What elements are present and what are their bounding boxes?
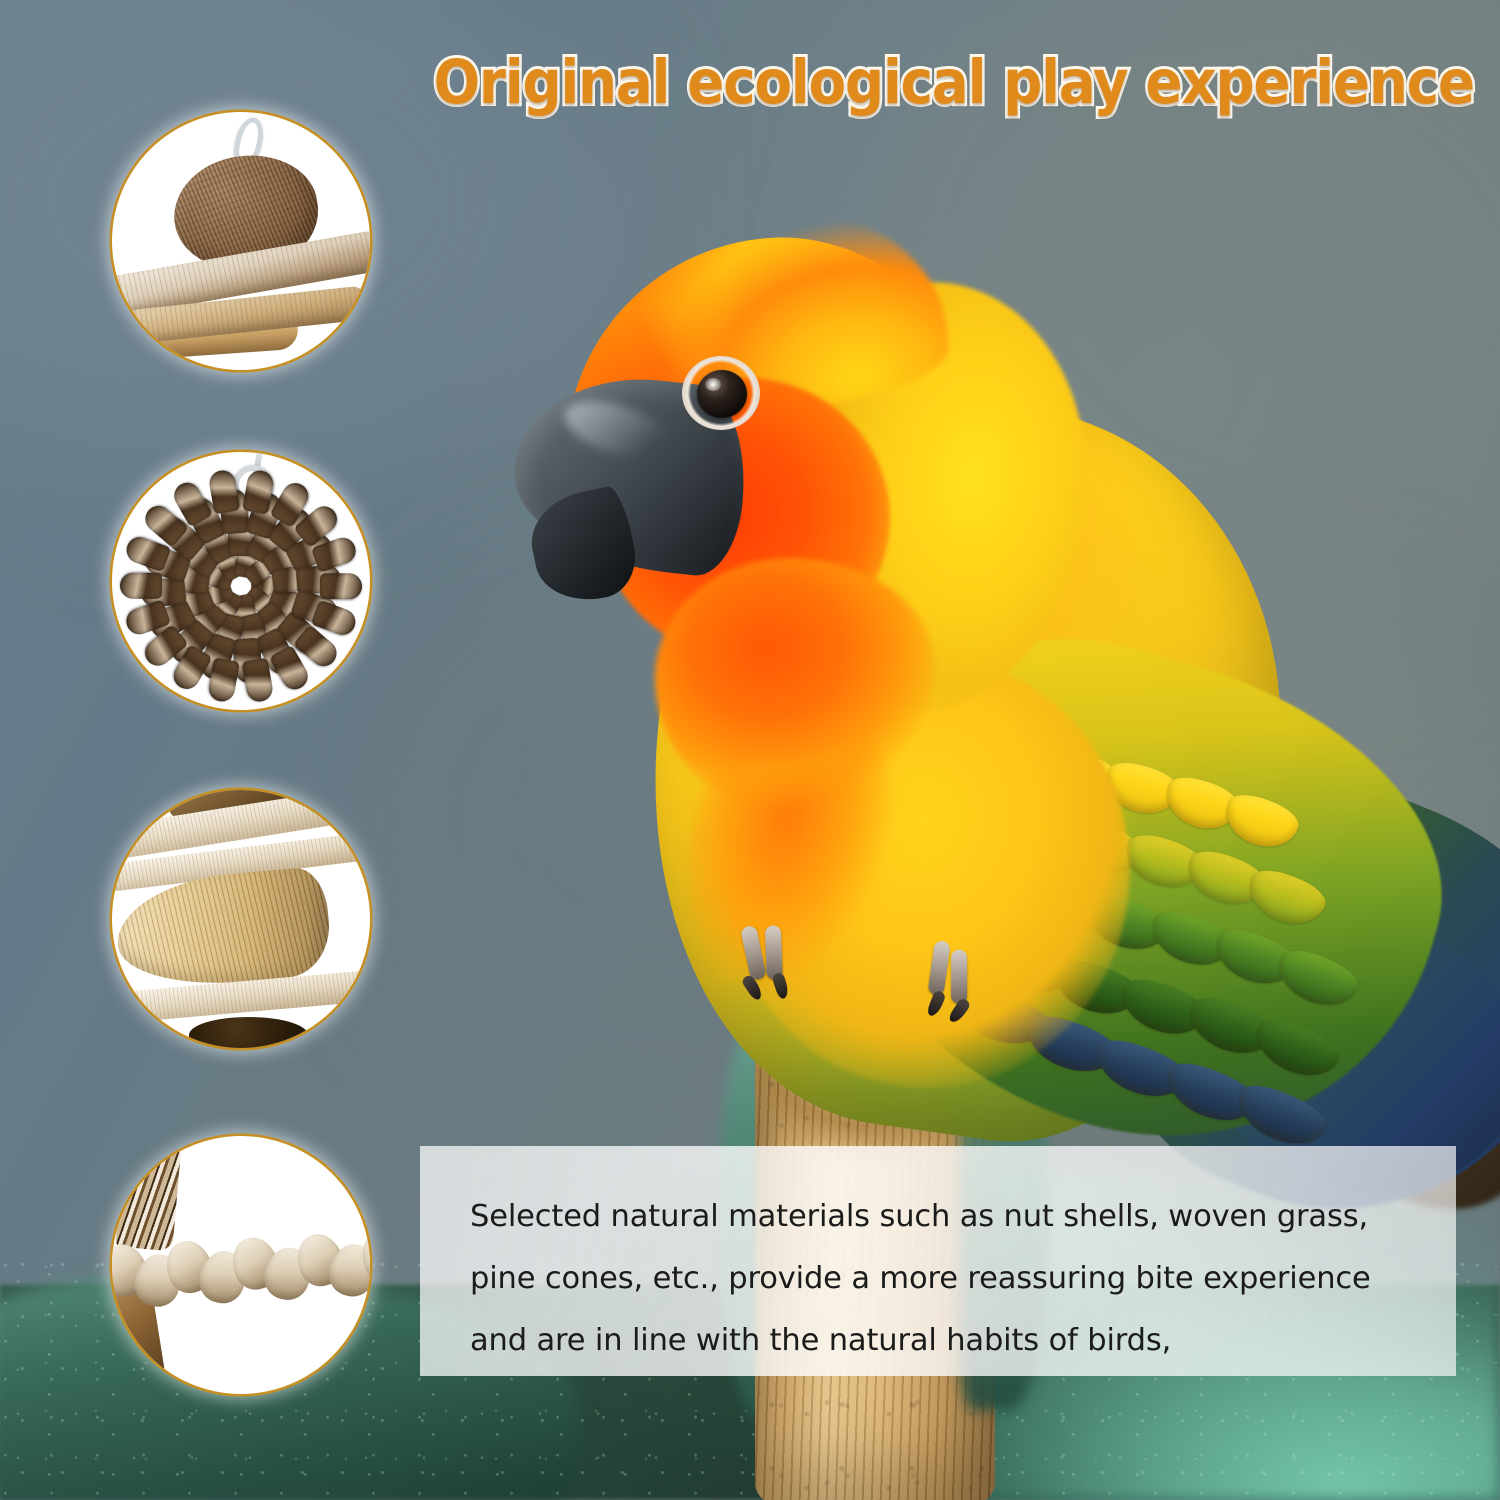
pine-cone-scale bbox=[120, 573, 162, 599]
product-feature-image: Original ecological play experience bbox=[0, 0, 1500, 1500]
description-panel: Selected natural materials such as nut s… bbox=[420, 1146, 1456, 1376]
thumbnail-braided-grass-rope[interactable] bbox=[112, 1136, 370, 1394]
woven-grass-icon bbox=[112, 1136, 370, 1394]
description-text: Selected natural materials such as nut s… bbox=[420, 1146, 1456, 1372]
page-title: Original ecological play experience bbox=[155, 52, 1474, 113]
seed-cluster-shape bbox=[189, 1017, 308, 1048]
thumbnail-corn-husk-material[interactable] bbox=[112, 790, 370, 1048]
thumbnail-nut-shell-toy[interactable] bbox=[112, 112, 370, 370]
sun-conure-parrot bbox=[505, 228, 1495, 1238]
pine-cone-scale bbox=[320, 573, 362, 599]
corn-husk-icon bbox=[112, 790, 370, 1048]
pine-cone-icon bbox=[112, 452, 370, 710]
parrot-eye-glint bbox=[705, 378, 721, 391]
parrot-eye bbox=[697, 370, 747, 418]
thumbnail-pine-cone-toy[interactable] bbox=[112, 452, 370, 710]
nut-shell-icon bbox=[112, 112, 370, 370]
bark-piece-shape bbox=[115, 1139, 181, 1252]
